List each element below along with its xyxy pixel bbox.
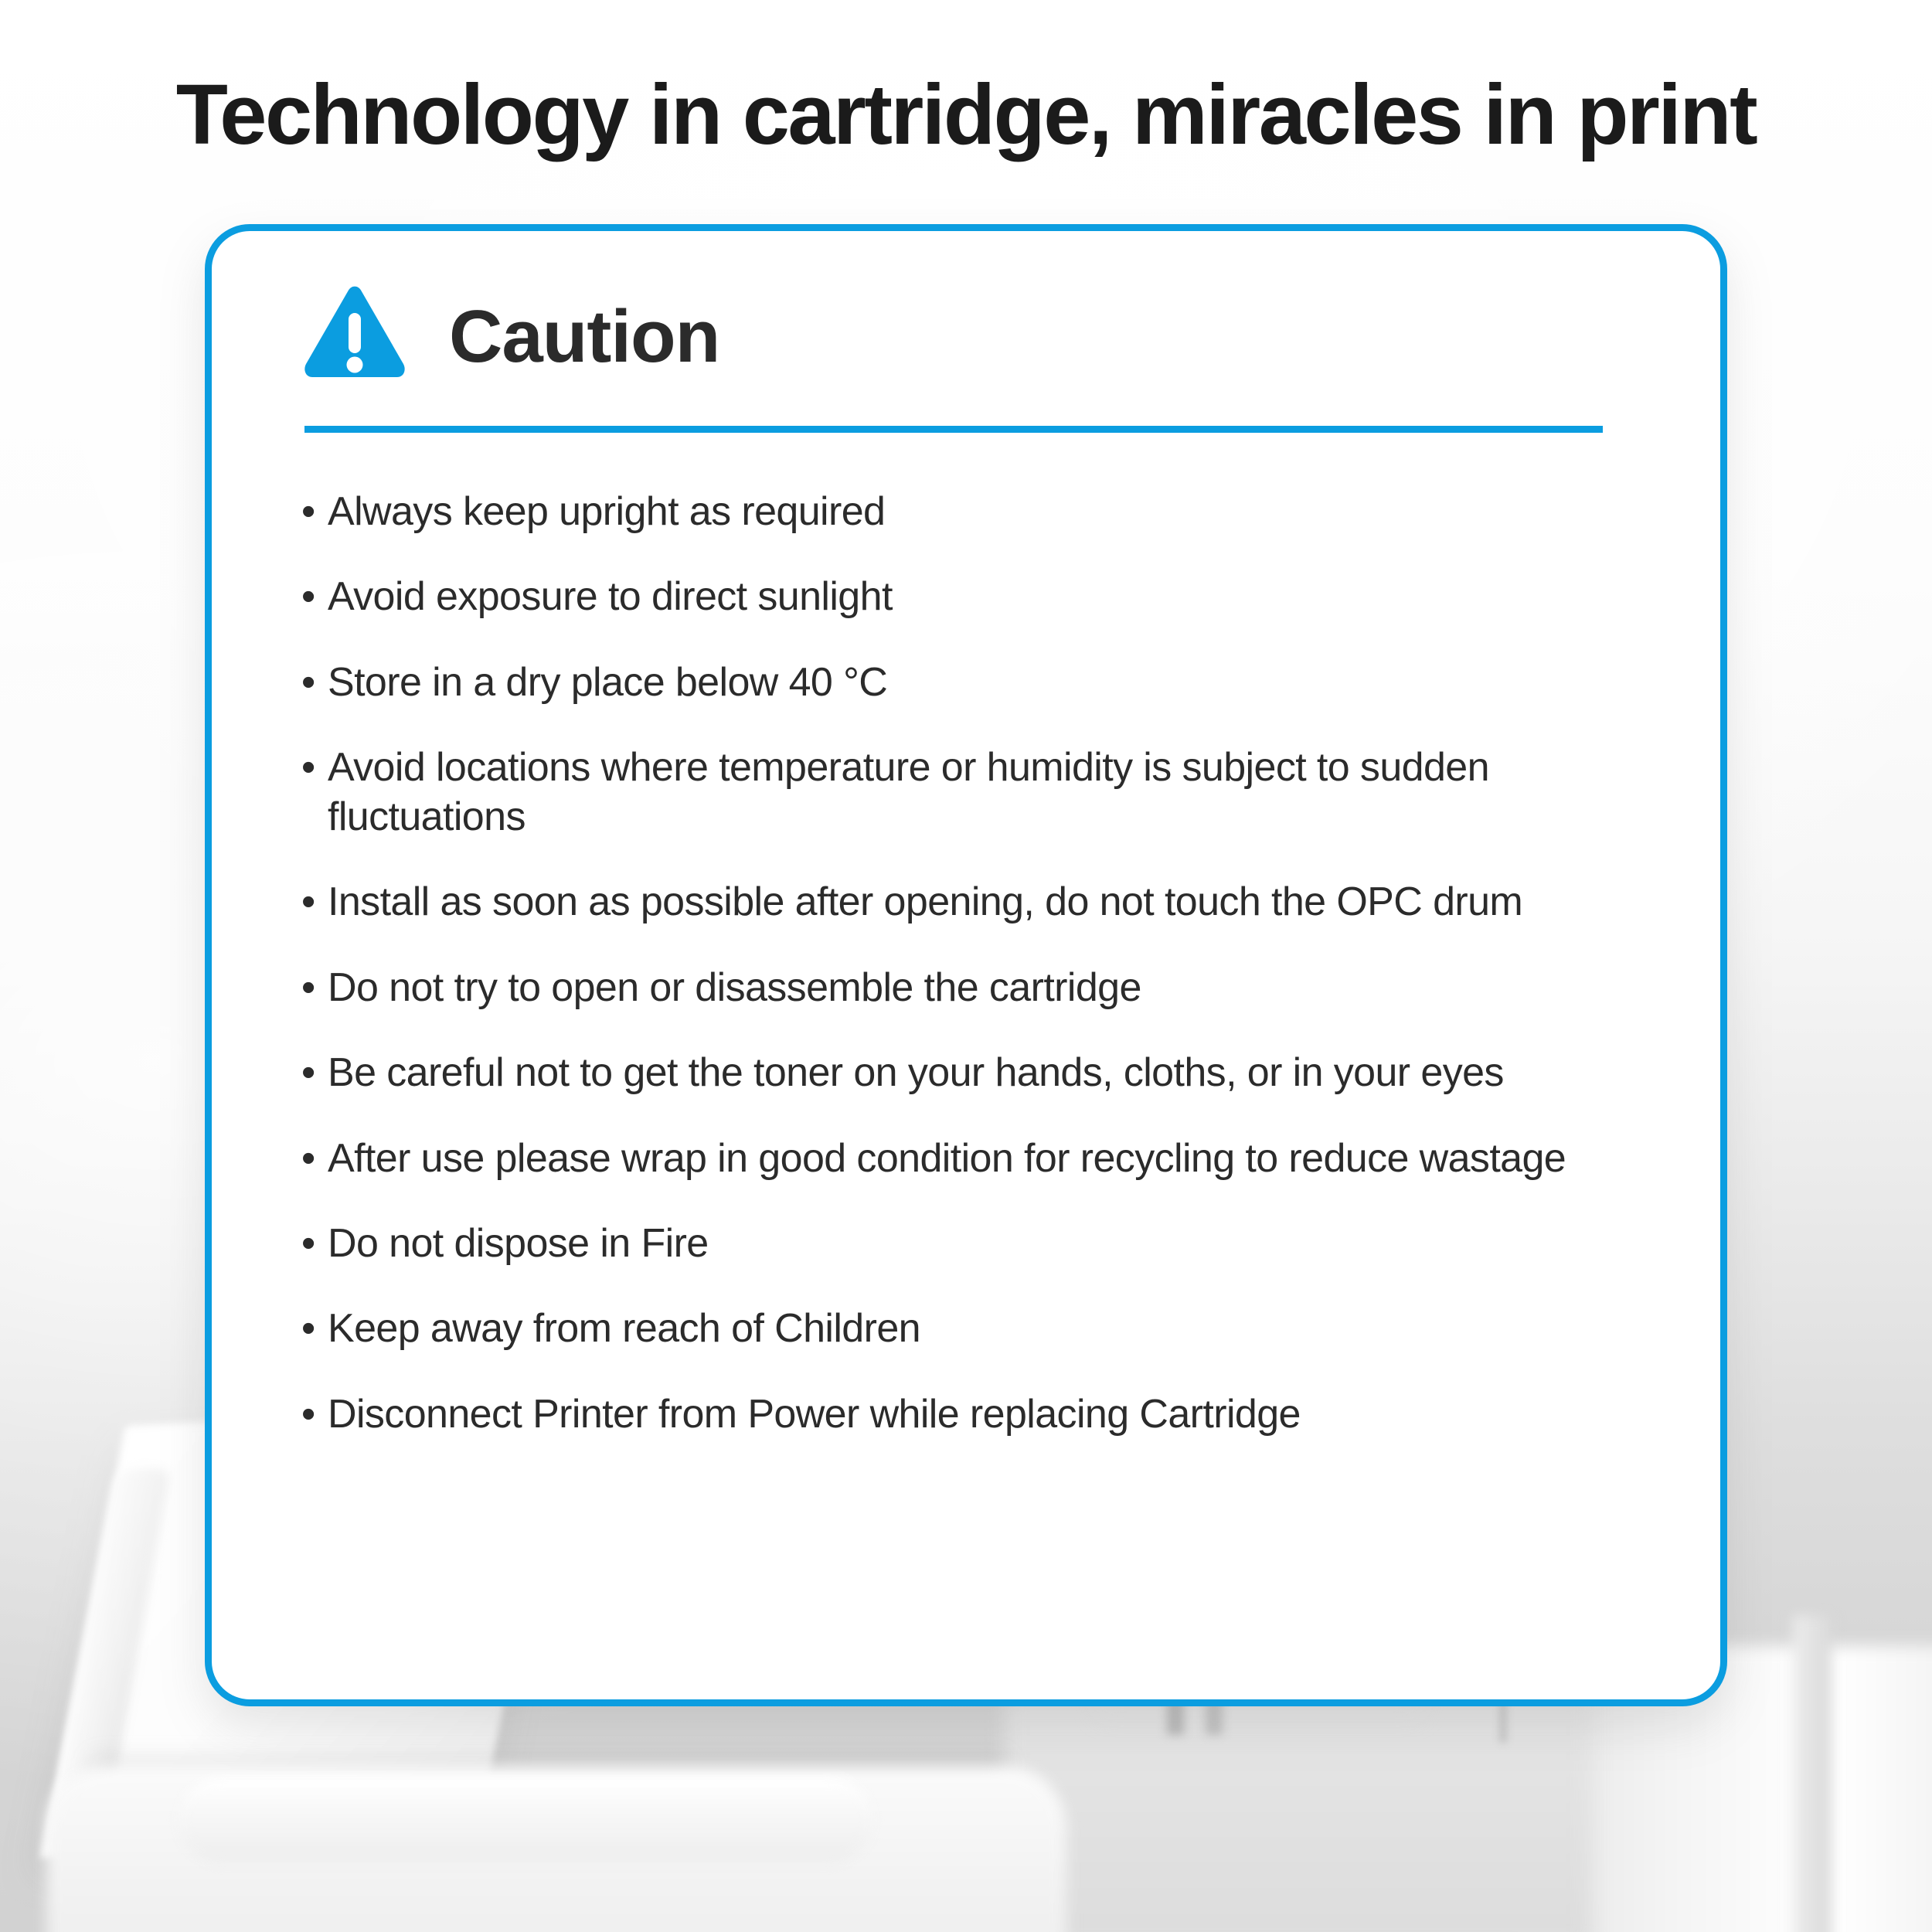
bullet-marker: • — [301, 1304, 328, 1353]
list-item: • Avoid locations where temperature or h… — [301, 743, 1662, 842]
list-item: • Store in a dry place below 40 °C — [301, 658, 1662, 707]
list-item: • Do not dispose in Fire — [301, 1219, 1662, 1268]
list-item: • Do not try to open or disassemble the … — [301, 964, 1662, 1012]
list-item: • Disconnect Printer from Power while re… — [301, 1390, 1662, 1439]
bullet-text: Do not dispose in Fire — [328, 1219, 1662, 1268]
caution-heading: Caution — [449, 300, 719, 374]
bullet-text: Be careful not to get the toner on your … — [328, 1049, 1662, 1097]
bullet-marker: • — [301, 488, 328, 536]
bullet-marker: • — [301, 1134, 328, 1183]
bullet-text: Do not try to open or disassemble the ca… — [328, 964, 1662, 1012]
bullet-marker: • — [301, 1390, 328, 1439]
bullet-marker: • — [301, 1219, 328, 1268]
caution-header: Caution — [301, 284, 719, 384]
bullet-text: Always keep upright as required — [328, 488, 1662, 536]
bullet-marker: • — [301, 878, 328, 927]
bullet-marker: • — [301, 964, 328, 1012]
bullet-text: Disconnect Printer from Power while repl… — [328, 1390, 1662, 1439]
list-item: • Be careful not to get the toner on you… — [301, 1049, 1662, 1097]
warning-triangle-icon — [301, 284, 409, 384]
page-title: Technology in cartridge, miracles in pri… — [0, 68, 1932, 162]
list-item: • Install as soon as possible after open… — [301, 878, 1662, 927]
bullet-text: Store in a dry place below 40 °C — [328, 658, 1662, 707]
list-item: • Always keep upright as required — [301, 488, 1662, 536]
bullet-text: Keep away from reach of Children — [328, 1304, 1662, 1353]
bullet-marker: • — [301, 658, 328, 707]
list-item: • Avoid exposure to direct sunlight — [301, 573, 1662, 621]
bullet-text: After use please wrap in good condition … — [328, 1134, 1662, 1183]
bullet-marker: • — [301, 1049, 328, 1097]
list-item: • After use please wrap in good conditio… — [301, 1134, 1662, 1183]
bullet-text: Avoid locations where temperature or hum… — [328, 743, 1662, 842]
bullet-text: Avoid exposure to direct sunlight — [328, 573, 1662, 621]
bullet-marker: • — [301, 743, 328, 792]
page-root: Technology in cartridge, miracles in pri… — [0, 0, 1932, 1932]
caution-bullet-list: • Always keep upright as required • Avoi… — [301, 488, 1662, 1475]
list-item: • Keep away from reach of Children — [301, 1304, 1662, 1353]
bullet-text: Install as soon as possible after openin… — [328, 878, 1662, 927]
bullet-marker: • — [301, 573, 328, 621]
header-divider — [304, 426, 1603, 433]
caution-card: Caution • Always keep upright as require… — [205, 224, 1727, 1706]
